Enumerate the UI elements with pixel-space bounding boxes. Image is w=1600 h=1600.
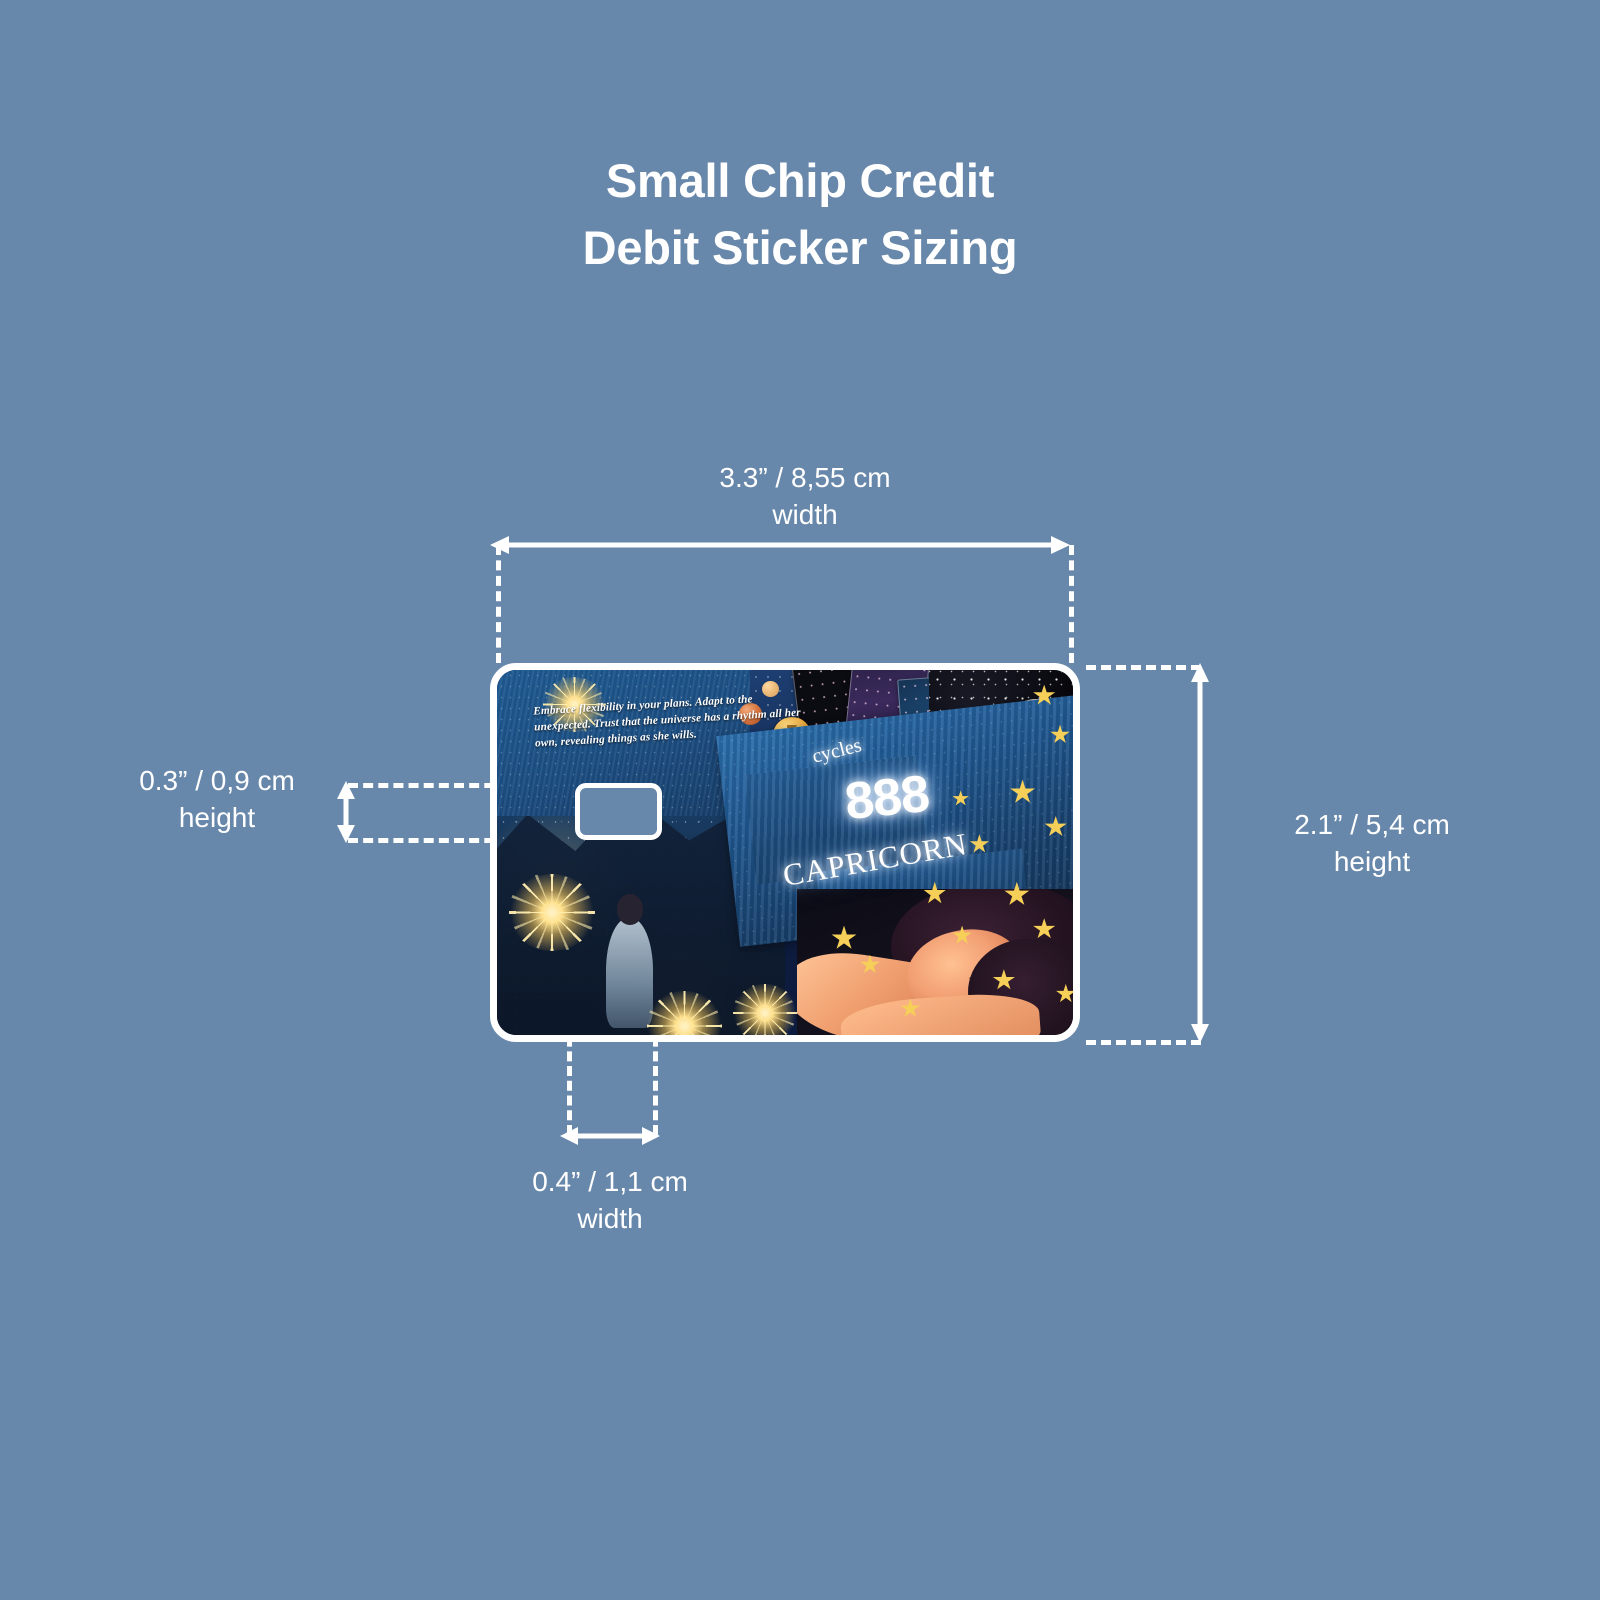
stargazer-figure-art [606,918,652,1028]
card-artwork: Embrace flexibility in your plans. Adapt… [497,670,1073,1035]
chip-width-arrow [560,1124,660,1148]
card-height-arrow [1188,663,1212,1043]
card-width-label: 3.3” / 8,55 cm width [600,459,1010,533]
chip-width-label: 0.4” / 1,1 cm width [455,1163,765,1237]
card-height-extension-bottom [1086,1040,1201,1045]
card-sticker-preview[interactable]: Embrace flexibility in your plans. Adapt… [490,663,1080,1042]
chip-height-label: 0.3” / 0,9 cm height [72,762,362,836]
chip-width-unit: width [455,1200,765,1237]
sleeping-woman-art [797,889,1073,1035]
card-width-extension-left [496,545,501,663]
chip-width-value: 0.4” / 1,1 cm [532,1166,688,1197]
card-width-extension-right [1069,545,1074,663]
sizing-diagram: Small Chip Credit Debit Sticker Sizing 3… [0,0,1600,1600]
card-width-unit: width [600,496,1010,533]
chip-height-unit: height [72,799,362,836]
page-title: Small Chip Credit Debit Sticker Sizing [0,148,1600,281]
starburst-icon [733,984,796,1035]
page-title-line-2: Debit Sticker Sizing [0,215,1600,282]
chip-height-value: 0.3” / 0,9 cm [139,765,295,796]
card-width-value: 3.3” / 8,55 cm [719,462,890,493]
card-width-arrow [490,533,1070,557]
chip-cutout-window [575,783,662,840]
card-height-extension-top [1086,665,1201,670]
card-height-value: 2.1” / 5,4 cm [1294,809,1450,840]
starburst-icon [509,874,595,951]
card-height-label: 2.1” / 5,4 cm height [1222,806,1522,880]
chip-height-arrow [334,781,358,843]
card-height-unit: height [1222,843,1522,880]
page-title-line-1: Small Chip Credit [0,148,1600,215]
